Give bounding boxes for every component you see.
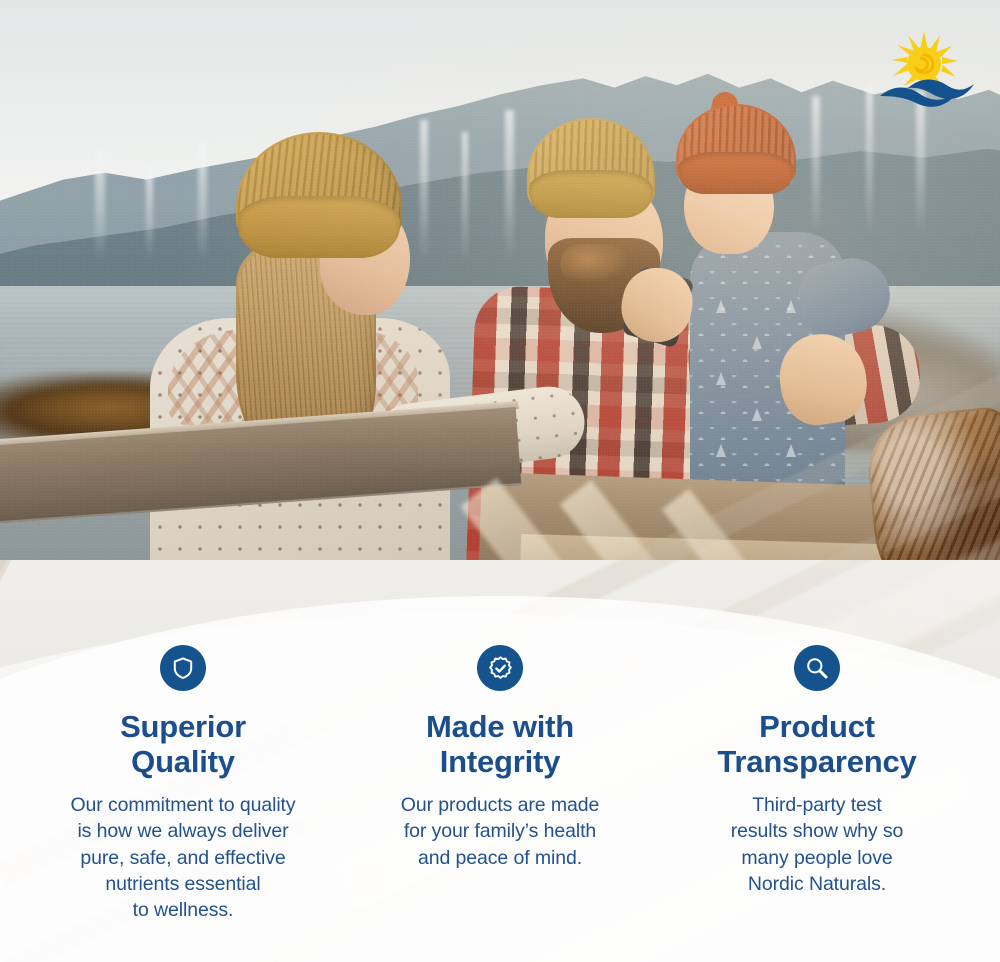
nordic-naturals-logo[interactable] [872,24,978,116]
baby-beanie-brim [678,152,794,194]
feature-body: Our commitment to quality is how we alwa… [70,792,295,924]
feature-superior-quality: Superior Quality Our commitment to quali… [28,645,338,924]
snow-streak [198,142,207,262]
baby-romper-tree-motif [716,372,726,385]
verified-badge-icon [477,645,523,691]
woman-beanie-brim [238,196,400,258]
feature-body: Our products are made for your family’s … [401,792,599,871]
shield-icon [160,645,206,691]
man-beanie-brim [529,170,653,218]
hero-photo [0,0,1000,620]
snow-streak [505,110,514,260]
logo-wave-icon [880,80,974,107]
man-beard-highlight [560,244,630,284]
baby-romper-tree-motif [786,444,796,457]
baby-romper-tree-motif [786,300,796,313]
feature-body: Third-party test results show why so man… [731,792,904,897]
snow-streak [462,132,468,262]
baby-romper-tree-motif [716,444,726,457]
baby-romper-tree-motif [752,336,762,349]
snow-streak [812,96,820,236]
snow-streak [146,165,153,260]
snow-streak [420,120,428,260]
snow-streak [95,150,105,260]
feature-title: Made with Integrity [426,709,574,779]
feature-product-transparency: Product Transparency Third-party test re… [662,645,972,897]
magnifying-glass-icon [794,645,840,691]
brand-banner: Superior Quality Our commitment to quali… [0,0,1000,962]
baby-romper-tree-motif [752,408,762,421]
feature-columns: Superior Quality Our commitment to quali… [0,645,1000,924]
feature-title: Product Transparency [717,709,916,779]
feature-title: Superior Quality [120,709,246,779]
feature-made-with-integrity: Made with Integrity Our products are mad… [345,645,655,871]
baby-romper-tree-motif [716,300,726,313]
